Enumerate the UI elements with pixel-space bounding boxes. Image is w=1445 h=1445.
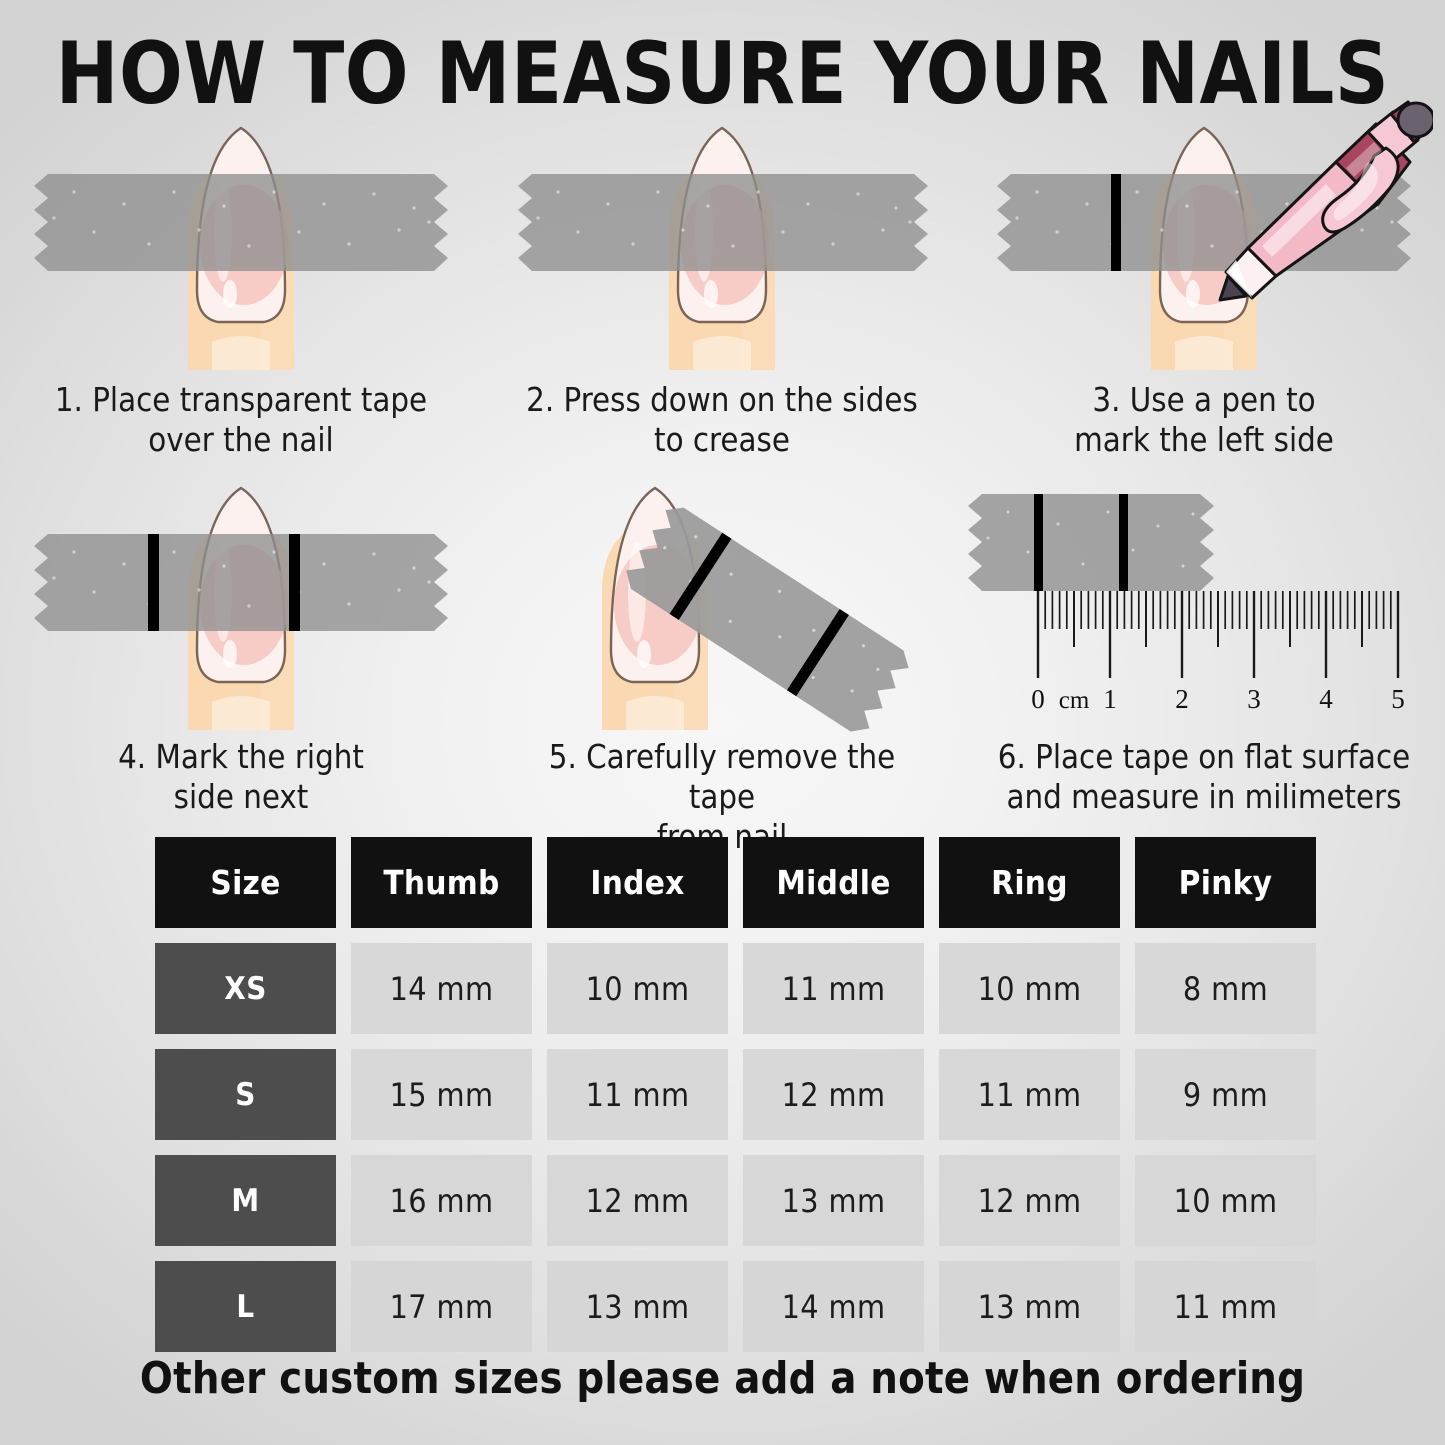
pen-mark-left xyxy=(1034,494,1043,591)
table-cell: 12 mm xyxy=(743,1049,924,1140)
step-3-caption: 3. Use a pen to mark the left side xyxy=(996,380,1412,460)
table-cell: 12 mm xyxy=(939,1155,1120,1246)
table-cell: 17 mm xyxy=(351,1261,532,1352)
step-6-caption: 6. Place tape on flat surface and measur… xyxy=(971,737,1436,817)
step-2-illustration xyxy=(482,112,964,370)
table-cell: 8 mm xyxy=(1135,943,1316,1034)
table-cell: 11 mm xyxy=(547,1049,728,1140)
table-header-row: Size Thumb Index Middle Ring Pinky xyxy=(155,837,1323,928)
table-row: M 16 mm 12 mm 13 mm 12 mm 10 mm xyxy=(155,1155,1323,1246)
table-row: XS 14 mm 10 mm 11 mm 10 mm 8 mm xyxy=(155,943,1323,1034)
table-size-label: XS xyxy=(155,943,336,1034)
step-1-illustration xyxy=(0,112,482,370)
footer-note: Other custom sizes please add a note whe… xyxy=(14,1353,1430,1404)
table-cell: 15 mm xyxy=(351,1049,532,1140)
step-1: 1. Place transparent tape over the nail xyxy=(0,112,482,460)
table-cell: 14 mm xyxy=(743,1261,924,1352)
finger-illustration xyxy=(126,112,356,370)
table-cell: 10 mm xyxy=(1135,1155,1316,1246)
ruler-labels: 0 cm 1 2 3 4 5 xyxy=(1031,684,1405,714)
step-4-illustration xyxy=(0,472,482,727)
finger-svg xyxy=(126,112,356,370)
step-5-illustration xyxy=(482,472,964,727)
steps-row-top: 1. Place transparent tape over the nail xyxy=(0,112,1445,460)
table-header-pinky: Pinky xyxy=(1135,837,1316,928)
ruler-tick-0: 0 xyxy=(1031,684,1045,714)
table-header-middle: Middle xyxy=(743,837,924,928)
step-3: 3. Use a pen to mark the left side xyxy=(963,112,1445,460)
table-size-label: L xyxy=(155,1261,336,1352)
step-6-illustration: 0 cm 1 2 3 4 5 xyxy=(963,472,1445,727)
table-cell: 13 mm xyxy=(939,1261,1120,1352)
ruler-tick-4: 4 xyxy=(1319,684,1333,714)
steps-row-bottom: 4. Mark the right side next xyxy=(0,472,1445,857)
ruler-tick-1: 1 xyxy=(1103,684,1117,714)
step-3-illustration xyxy=(963,112,1445,370)
table-cell: 14 mm xyxy=(351,943,532,1034)
step-2: 2. Press down on the sides to crease xyxy=(482,112,964,460)
steps-section: 1. Place transparent tape over the nail xyxy=(0,112,1445,857)
ruler-illustration: 0 cm 1 2 3 4 5 xyxy=(963,472,1445,730)
table-header-index: Index xyxy=(547,837,728,928)
table-cell: 11 mm xyxy=(939,1049,1120,1140)
step-1-caption: 1. Place transparent tape over the nail xyxy=(33,380,449,460)
finger-svg xyxy=(540,472,770,730)
table-size-label: S xyxy=(155,1049,336,1140)
pen-icon xyxy=(1218,100,1433,310)
step-4: 4. Mark the right side next xyxy=(0,472,482,857)
table-row: L 17 mm 13 mm 14 mm 13 mm 11 mm xyxy=(155,1261,1323,1352)
table-cell: 13 mm xyxy=(743,1155,924,1246)
table-cell: 10 mm xyxy=(547,943,728,1034)
ruler-tick-3: 3 xyxy=(1247,684,1261,714)
finger-svg xyxy=(607,112,837,370)
table-cell: 10 mm xyxy=(939,943,1120,1034)
finger-illustration xyxy=(607,112,837,370)
table-size-label: M xyxy=(155,1155,336,1246)
finger-illustration xyxy=(126,472,356,730)
ruler-tick-2: 2 xyxy=(1175,684,1189,714)
table-cell: 11 mm xyxy=(1135,1261,1316,1352)
table-cell: 9 mm xyxy=(1135,1049,1316,1140)
table-cell: 16 mm xyxy=(351,1155,532,1246)
ruler-unit-label: cm xyxy=(1059,687,1090,714)
step-6: 0 cm 1 2 3 4 5 6. Place tape on flat sur… xyxy=(963,472,1445,857)
table-cell: 13 mm xyxy=(547,1261,728,1352)
pen-svg xyxy=(1218,100,1433,305)
step-2-caption: 2. Press down on the sides to crease xyxy=(514,380,930,460)
step-5: 5. Carefully remove the tape from nail xyxy=(482,472,964,857)
infographic-page: HOW TO MEASURE YOUR NAILS xyxy=(0,0,1445,1445)
ruler-svg: 0 cm 1 2 3 4 5 xyxy=(963,472,1444,730)
table-cell: 12 mm xyxy=(547,1155,728,1246)
table-cell: 11 mm xyxy=(743,943,924,1034)
ruler-tick-5: 5 xyxy=(1391,684,1405,714)
pen-mark-right xyxy=(786,609,848,696)
ruler-ticks xyxy=(1038,591,1398,678)
finger-illustration xyxy=(540,472,770,730)
finger-svg xyxy=(126,472,356,730)
table-header-thumb: Thumb xyxy=(351,837,532,928)
pen-mark-right xyxy=(1119,494,1128,591)
size-table: Size Thumb Index Middle Ring Pinky XS 14… xyxy=(155,837,1323,1352)
page-title: HOW TO MEASURE YOUR NAILS xyxy=(22,28,1424,120)
table-row: S 15 mm 11 mm 12 mm 11 mm 9 mm xyxy=(155,1049,1323,1140)
table-header-size: Size xyxy=(155,837,336,928)
table-header-ring: Ring xyxy=(939,837,1120,928)
step-4-caption: 4. Mark the right side next xyxy=(33,737,449,817)
